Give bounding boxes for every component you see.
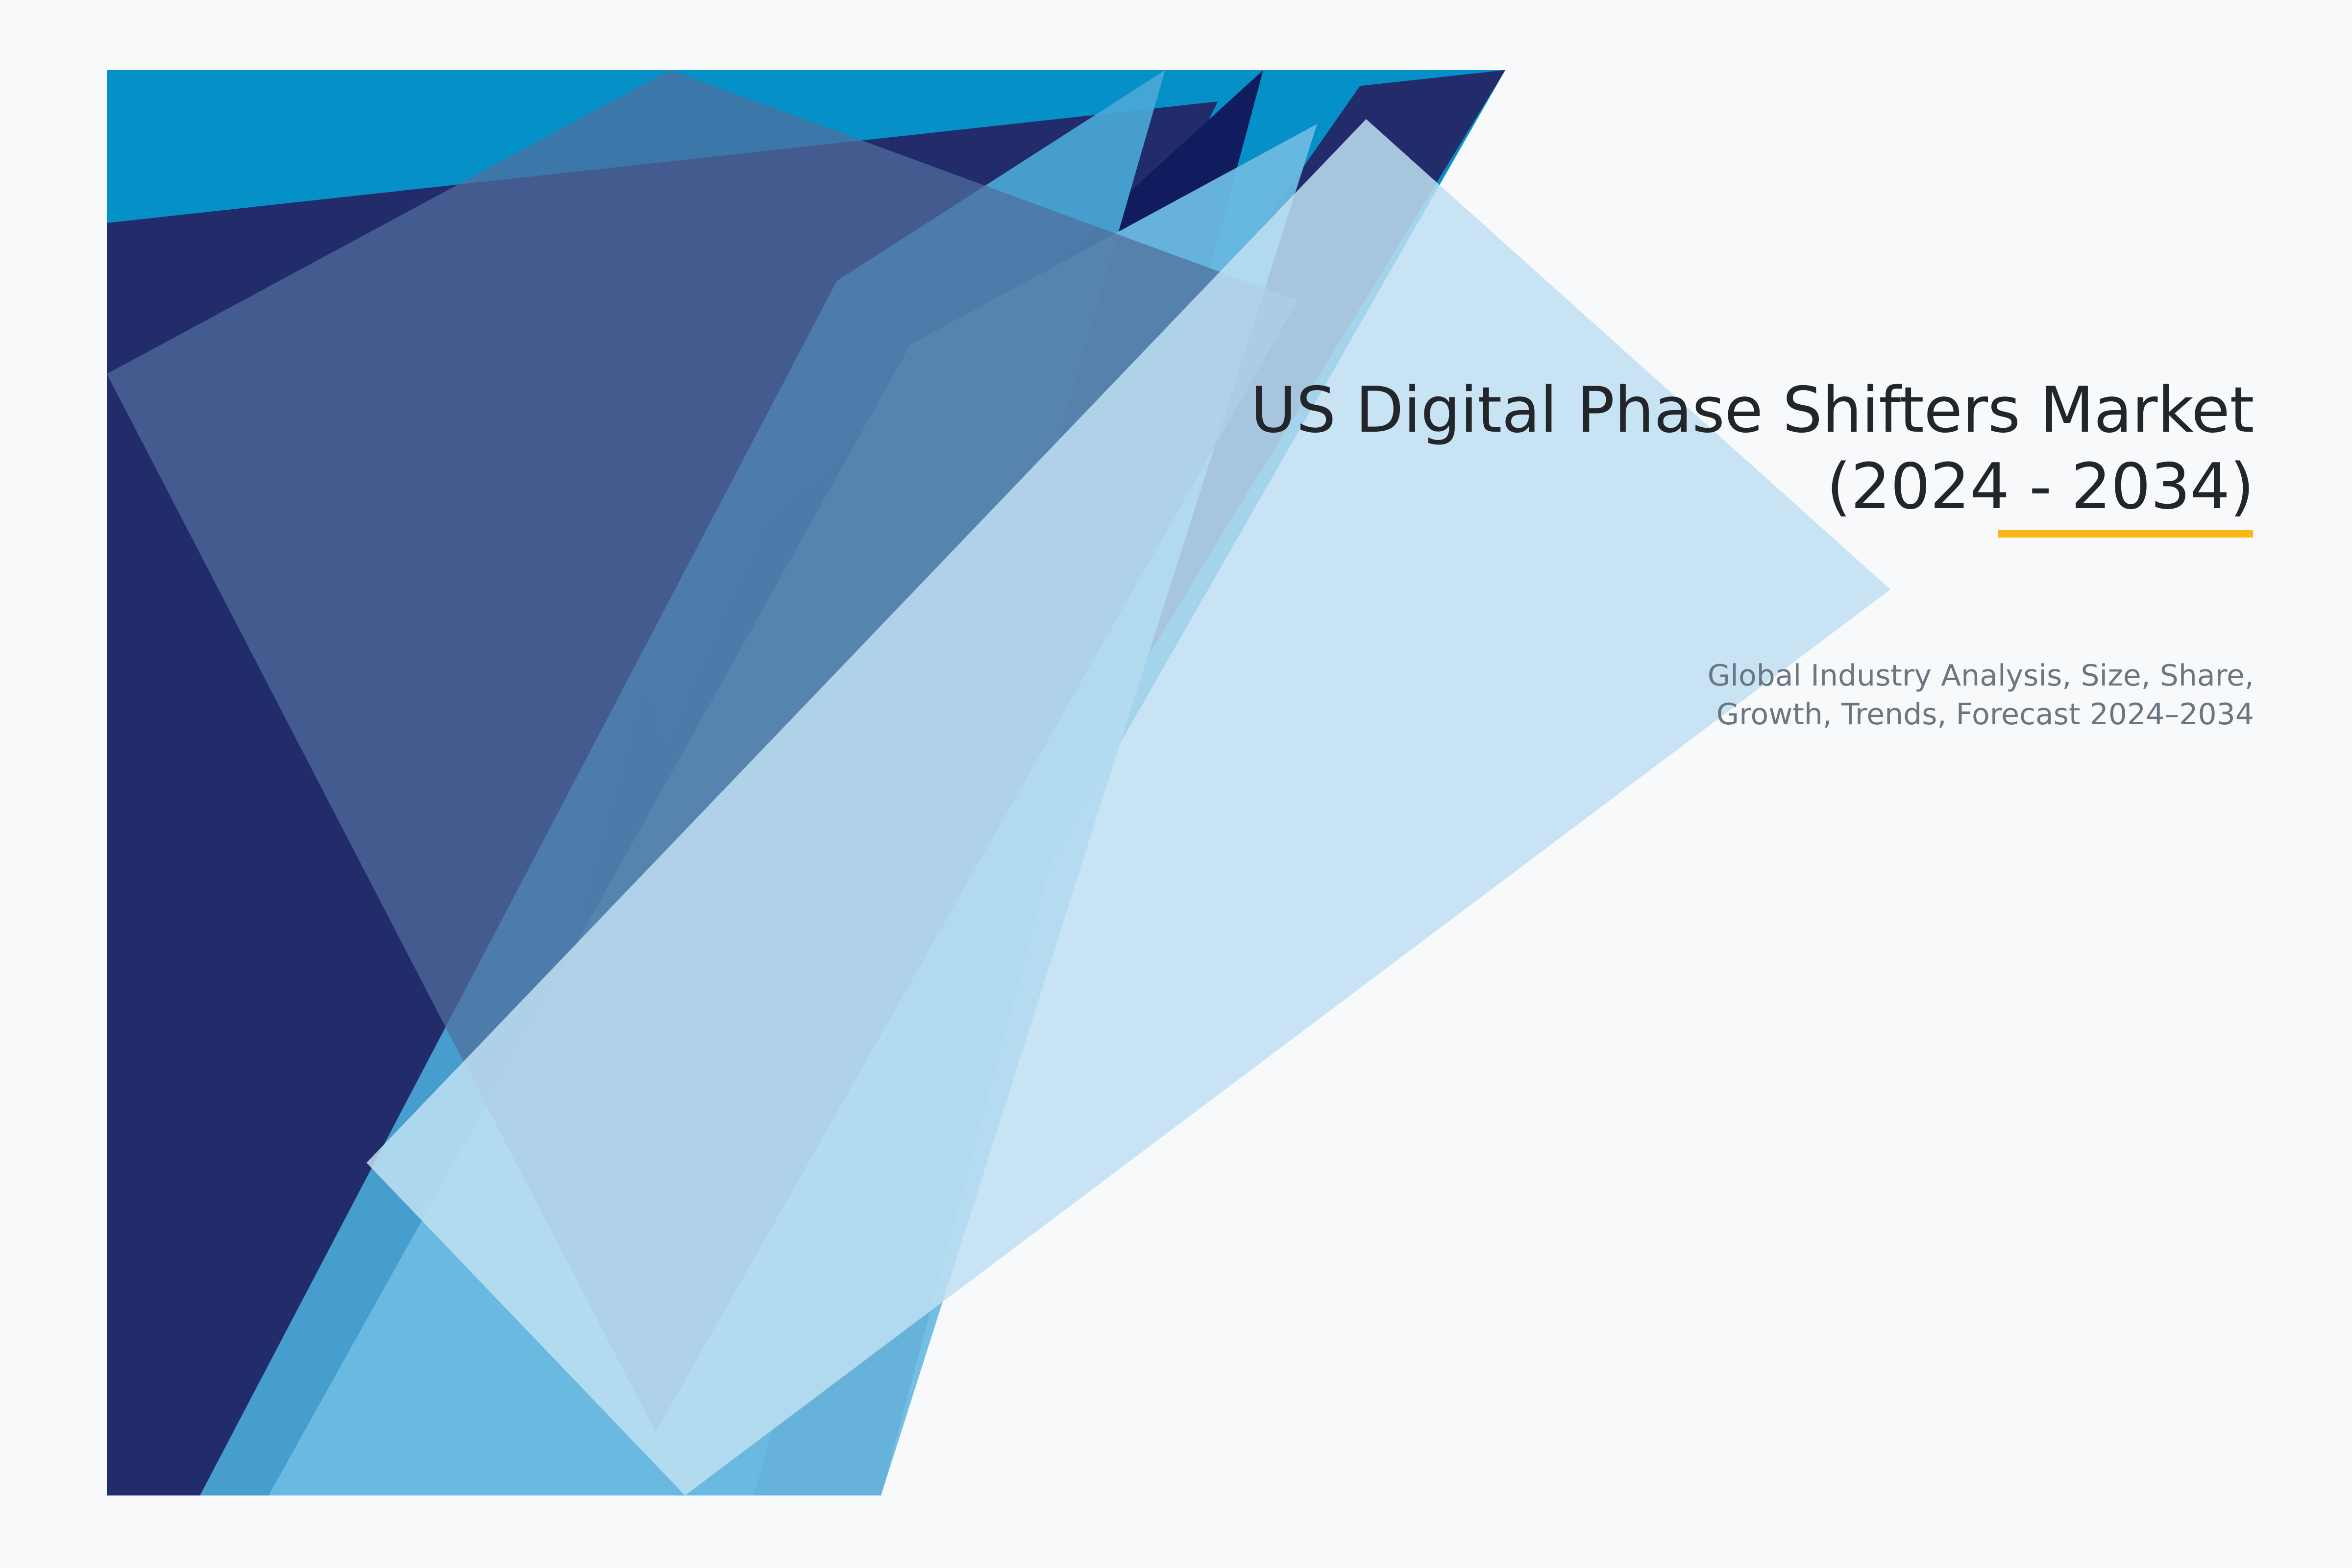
abstract-geometric-graphic [107,70,1508,1495]
report-cover: US Digital Phase Shifters Market (2024 -… [0,0,2352,1568]
title-accent-underline [1998,530,2253,538]
page-subtitle: Global Industry Analysis, Size, Share, G… [1617,657,2254,734]
title-block: US Digital Phase Shifters Market (2024 -… [980,372,2254,525]
cover-artwork [107,70,1508,1495]
page-title: US Digital Phase Shifters Market (2024 -… [980,372,2254,525]
